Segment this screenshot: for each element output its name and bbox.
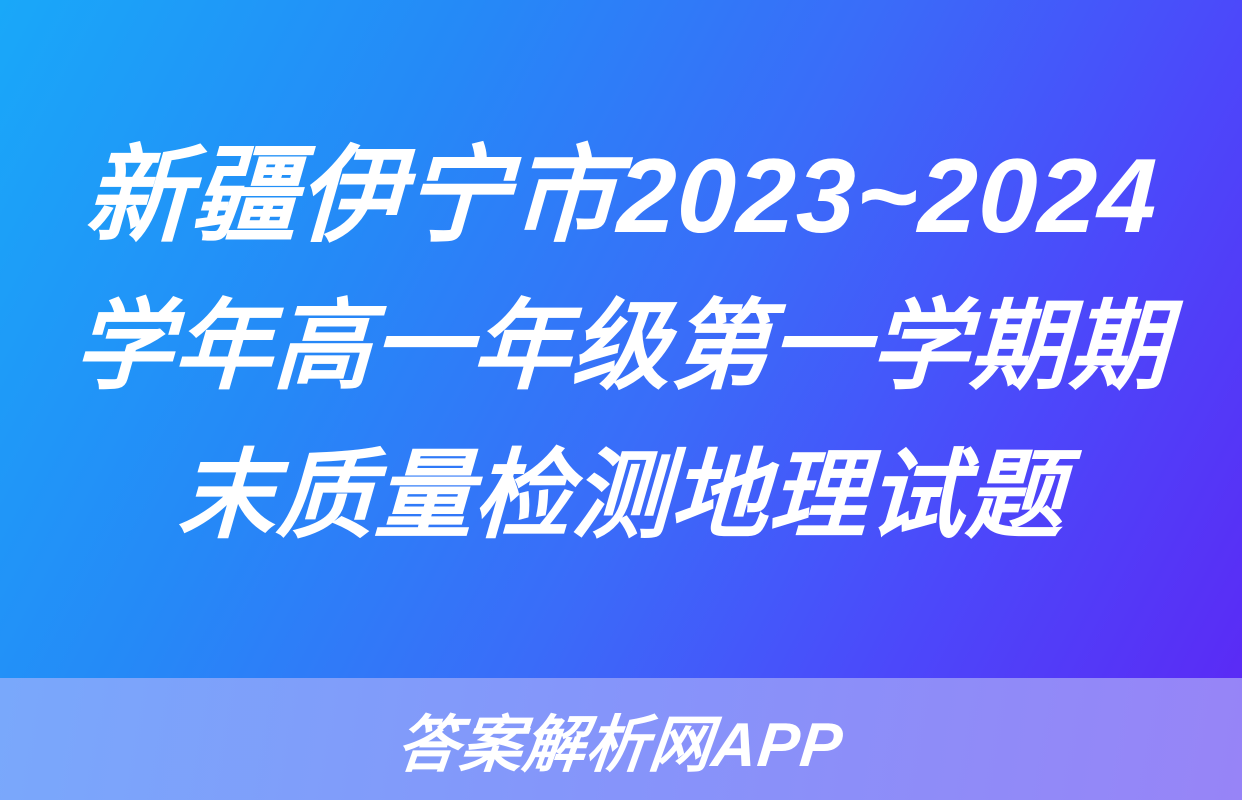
exam-title-line-3: 末质量检测地理试题 [175, 421, 1067, 571]
app-brand-label: 答案解析网APP [394, 694, 849, 784]
exam-title-line-1: 新疆伊宁市2023~2024 [82, 121, 1160, 271]
app-watermark-banner: 答案解析网APP [0, 678, 1242, 800]
exam-title-line-2: 学年高一年级第一学期期 [71, 271, 1171, 421]
hero-gradient-background: 新疆伊宁市2023~2024 学年高一年级第一学期期 末质量检测地理试题 [0, 0, 1242, 678]
exam-cover-poster: 新疆伊宁市2023~2024 学年高一年级第一学期期 末质量检测地理试题 答案解… [0, 0, 1242, 800]
exam-title-block: 新疆伊宁市2023~2024 学年高一年级第一学期期 末质量检测地理试题 [61, 121, 1181, 571]
